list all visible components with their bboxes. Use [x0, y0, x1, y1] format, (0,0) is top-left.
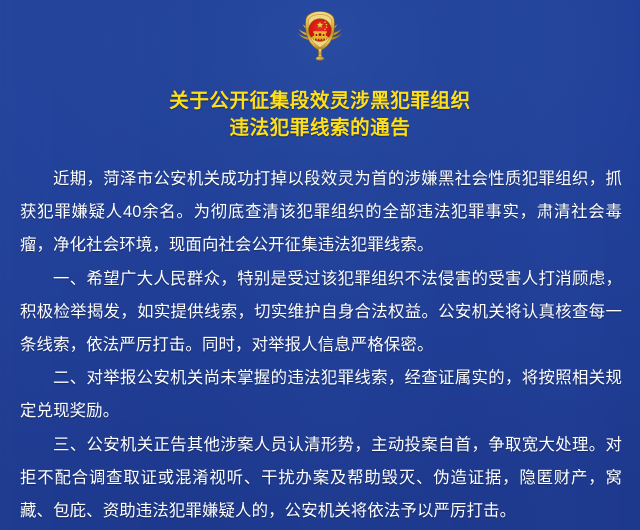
- notice-paragraph-item-1: 一、希望广大人民群众，特别是受过该犯罪组织不法侵害的受害人打消顾虑，积极检举揭发…: [20, 263, 622, 363]
- notice-title-line-2: 违法犯罪线索的通告: [0, 115, 640, 142]
- notice-paragraph-item-3: 三、公安机关正告其他涉案人员认清形势，主动投案自首，争取宽大处理。对拒不配合调查…: [20, 429, 622, 529]
- notice-paragraph-intro: 近期，菏泽市公安机关成功打掉以段效灵为首的涉嫌黑社会性质犯罪组织，抓获犯罪嫌疑人…: [20, 163, 622, 263]
- police-notice-poster: 关于公开征集段效灵涉黑犯罪组织 违法犯罪线索的通告 近期，菏泽市公安机关成功打掉…: [0, 0, 640, 530]
- notice-title-line-1: 关于公开征集段效灵涉黑犯罪组织: [0, 88, 640, 115]
- notice-body: 近期，菏泽市公安机关成功打掉以段效灵为首的涉嫌黑社会性质犯罪组织，抓获犯罪嫌疑人…: [20, 163, 622, 528]
- notice-paragraph-item-2: 二、对举报公安机关尚未掌握的违法犯罪线索，经查证属实的，将按照相关规定兑现奖励。: [20, 362, 622, 428]
- china-police-emblem-icon: [291, 8, 349, 66]
- notice-title: 关于公开征集段效灵涉黑犯罪组织 违法犯罪线索的通告: [0, 88, 640, 142]
- emblem-container: [0, 6, 640, 68]
